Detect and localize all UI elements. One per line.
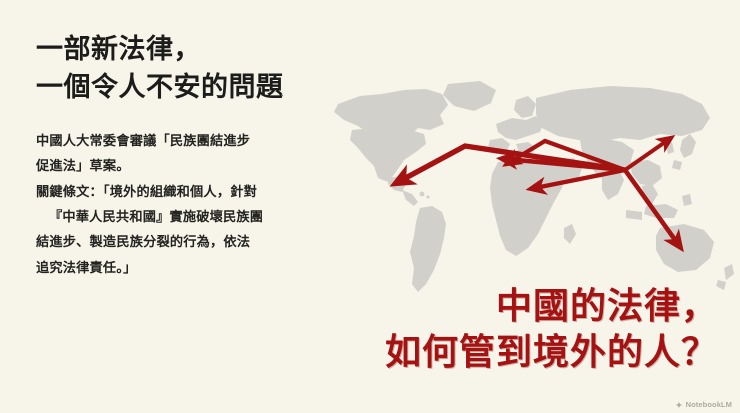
red-headline-line-1: 中國的法律， (385, 283, 718, 329)
page-title-line-2: 一個令人不安的問題 (36, 68, 336, 106)
red-headline-line-2: 如何管到境外的人？ (385, 329, 718, 375)
slide-canvas: 一部新法律， 一個令人不安的問題 中國人大常委會審議「民族團結進步 促進法」草案… (0, 0, 740, 413)
body-line-6: 追究法律責任。」 (36, 255, 342, 280)
body-line-5: 結進步、製造民族分裂的行為，依法 (36, 229, 342, 254)
notebooklm-logo-icon (675, 401, 683, 409)
body-line-4: 『中華人民共和國』實施破壞民族團 (36, 204, 342, 229)
body-line-1: 中國人大常委會審議「民族團結進步 (36, 128, 342, 153)
world-map (330, 78, 740, 308)
notebooklm-watermark: NotebookLM (675, 400, 732, 409)
red-question-headline: 中國的法律， 如何管到境外的人？ (385, 283, 718, 375)
body-line-3: 關鍵條文：「境外的組織和個人，針對 (36, 179, 342, 204)
page-title-line-1: 一部新法律， (36, 30, 336, 68)
body-text: 中國人大常委會審議「民族團結進步 促進法」草案。 關鍵條文：「境外的組織和個人，… (36, 128, 342, 280)
watermark-label: NotebookLM (686, 400, 732, 409)
page-title: 一部新法律， 一個令人不安的問題 (36, 30, 336, 107)
body-line-2: 促進法」草案。 (36, 153, 342, 178)
